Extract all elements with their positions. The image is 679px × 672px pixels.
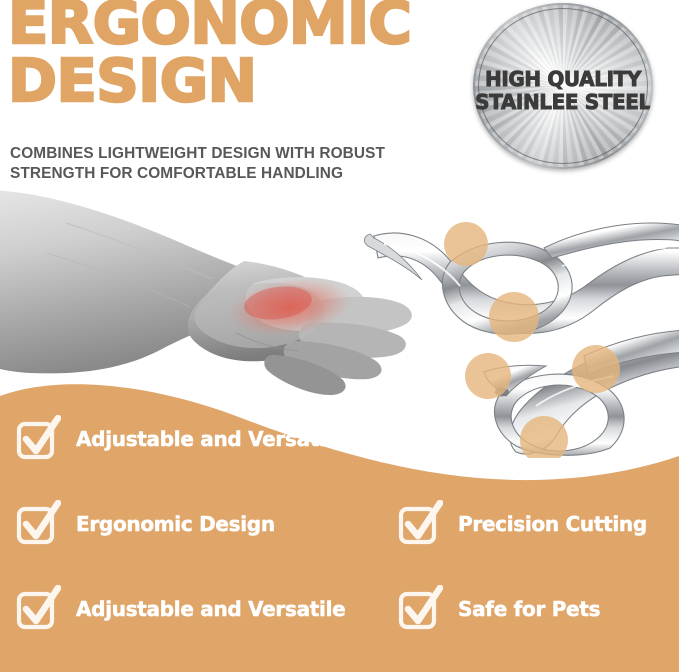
list-item[interactable]: Ergonomic Design xyxy=(14,500,275,547)
list-item[interactable]: Safe for Pets xyxy=(396,585,600,632)
list-item-label: Precision Cutting xyxy=(458,514,647,534)
feature-list: Adjustable and Versatile Ergonomic Desig… xyxy=(0,360,679,672)
page-subtitle: COMBINES LIGHTWEIGHT DESIGN WITH ROBUST … xyxy=(10,144,430,185)
list-item-label: Adjustable and Versatile xyxy=(76,429,345,449)
checkbox-checked-icon xyxy=(14,585,61,632)
badge-label: HIGH QUALITY STAINLEE STEEL xyxy=(475,68,651,114)
quality-seal-badge: HIGH QUALITY STAINLEE STEEL xyxy=(473,3,653,169)
highlight-dot xyxy=(489,292,539,342)
highlight-dot xyxy=(444,222,488,266)
checkbox-checked-icon xyxy=(14,500,61,547)
product-feature-graphic: ERGONOMIC DESIGN COMBINES LIGHTWEIGHT DE… xyxy=(0,0,679,672)
list-item[interactable]: Precision Cutting xyxy=(396,500,647,547)
page-title: ERGONOMIC DESIGN xyxy=(8,0,468,110)
list-item-label: Safe for Pets xyxy=(458,599,600,619)
list-item[interactable]: Adjustable and Versatile xyxy=(14,415,345,462)
checkbox-checked-icon xyxy=(396,500,443,547)
list-item-label: Ergonomic Design xyxy=(76,514,275,534)
list-item-label: Adjustable and Versatile xyxy=(76,599,345,619)
list-item[interactable]: Adjustable and Versatile xyxy=(14,585,345,632)
checkbox-checked-icon xyxy=(396,585,443,632)
checkbox-checked-icon xyxy=(14,415,61,462)
